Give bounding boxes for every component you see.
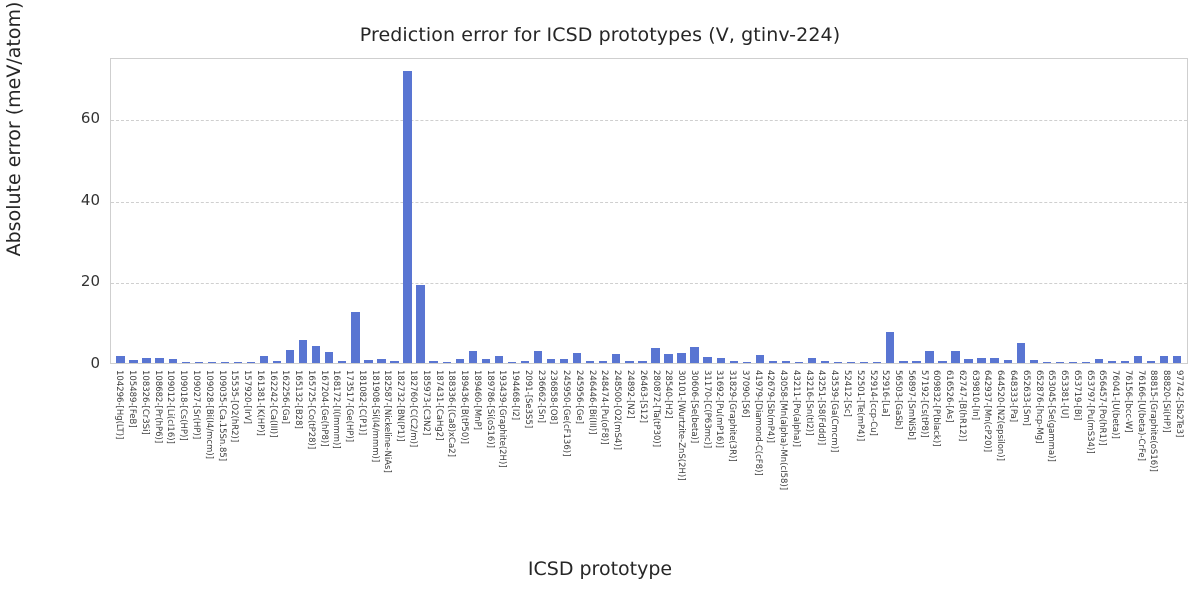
x-tick-slot: 189436-[B(tP50)] <box>458 368 471 528</box>
x-tick-slot: 109018-[Cs(HP)] <box>177 368 190 528</box>
bar <box>547 359 555 363</box>
x-tick-label: 189786-[Si(oS16)] <box>485 370 495 448</box>
bar <box>286 350 294 363</box>
bar-slot <box>584 59 597 363</box>
bar <box>155 358 163 363</box>
x-tick-slot: 189460-[MnP] <box>470 368 483 528</box>
bar <box>169 359 177 363</box>
x-tick-slot: 30101-[Wurtzite-ZnS(2H)] <box>675 368 688 528</box>
bar-slot <box>571 59 584 363</box>
x-tick-label: 642937-[Mn(cP20)] <box>982 370 992 452</box>
x-tick-slot: 43539-[Ga(Cmcm)] <box>828 368 841 528</box>
bar-slot <box>179 59 192 363</box>
x-tick-slot: 109027-[Sr(HP)] <box>190 368 203 528</box>
bar <box>638 361 646 363</box>
bar-slot <box>1027 59 1040 363</box>
x-tick-slot: 43211-[Po(alpha)] <box>790 368 803 528</box>
bar <box>1121 361 1129 363</box>
x-tick-slot: 31829-[Graphite(3R)] <box>726 368 739 528</box>
x-tick-slot: 108326-[Cr3Si] <box>139 368 152 528</box>
bar <box>873 362 881 363</box>
bar <box>899 361 907 363</box>
x-tick-label: 109027-[Sr(HP)] <box>191 370 201 439</box>
x-tick-label: 108326-[Cr3Si] <box>140 370 150 435</box>
bar-slot <box>297 59 310 363</box>
bar-slot <box>388 59 401 363</box>
bar-slot <box>766 59 779 363</box>
bar <box>221 362 229 363</box>
bar-slot <box>1119 59 1132 363</box>
x-tick-slot: 653381-[U] <box>1058 368 1071 528</box>
x-tick-slot: 248474-[Pu(oF8)] <box>598 368 611 528</box>
bar-slot <box>975 59 988 363</box>
x-tick-slot: 193439-[Graphite(2H)] <box>496 368 509 528</box>
bar <box>1147 361 1155 363</box>
bar-slot <box>492 59 505 363</box>
x-tick-label: 653381-[U] <box>1059 370 1069 418</box>
bar-slot <box>362 59 375 363</box>
bar <box>182 362 190 363</box>
x-tick-slot: 181908-[Si(I4/mmm)] <box>368 368 381 528</box>
bar-slot <box>740 59 753 363</box>
x-tick-label: 105489-[FeB] <box>127 370 137 428</box>
x-tick-slot: 28540-[H2] <box>662 368 675 528</box>
bar <box>912 361 920 363</box>
bar-slot <box>453 59 466 363</box>
bar <box>951 351 959 363</box>
x-tick-slot: 656457-[Po(hR1)] <box>1096 368 1109 528</box>
x-tick-slot: 43216-[Sn(tI2)] <box>802 368 815 528</box>
x-tick-slot: 236858-[O8] <box>547 368 560 528</box>
x-tick-label: 165132-[B28] <box>293 370 303 429</box>
x-tick-slot: 280872-[Ta(tP30)] <box>649 368 662 528</box>
bar-slot <box>858 59 871 363</box>
x-tick-slot: 616526-[As] <box>943 368 956 528</box>
x-tick-label: 15535-[O2(hR2)] <box>229 370 239 442</box>
x-tick-slot: 15535-[O2(hR2)] <box>228 368 241 528</box>
bar <box>1160 356 1168 363</box>
x-tick-slot: 26463-[S12] <box>636 368 649 528</box>
bar-slot <box>988 59 1001 363</box>
bar <box>482 359 490 363</box>
bar <box>756 355 764 363</box>
x-tick-slot: 104296-[Hg(LT)] <box>113 368 126 528</box>
x-tick-slot: 246446-[Bi(III)] <box>585 368 598 528</box>
x-tick-slot: 653045-[Se(gamma)] <box>1045 368 1058 528</box>
x-tick-slot: 105489-[FeB] <box>126 368 139 528</box>
bar-series <box>111 59 1187 363</box>
bar <box>142 358 150 363</box>
bar <box>456 359 464 363</box>
bar-slot <box>949 59 962 363</box>
bar-slot <box>610 59 623 363</box>
x-tick-label: 109012-[Li(cI16)] <box>165 370 175 444</box>
x-tick-label: 652876-[hcp-Mg] <box>1034 370 1044 443</box>
x-tick-label: 656457-[Po(hR1)] <box>1097 370 1107 446</box>
x-tick-label: 187431-[CaHg2] <box>434 370 444 441</box>
bar <box>730 361 738 363</box>
x-tick-slot: 52412-[Sc] <box>841 368 854 528</box>
x-tick-label: 236662-[Sn] <box>536 370 546 423</box>
bar <box>886 332 894 363</box>
x-tick-label: 609832-[P(black)] <box>931 370 941 446</box>
bar-slot <box>936 59 949 363</box>
bar <box>612 354 620 363</box>
bar-slot <box>1014 59 1027 363</box>
bar-slot <box>284 59 297 363</box>
bar <box>234 362 242 363</box>
x-tick-slot: 236662-[Sn] <box>534 368 547 528</box>
bar-slot <box>114 59 127 363</box>
x-tick-slot: 56897-[SmNiSb] <box>904 368 917 528</box>
bar-slot <box>479 59 492 363</box>
x-tick-label: 182732-[BN(P1)] <box>395 370 405 442</box>
x-tick-slot: 76156-[bcc-W] <box>1121 368 1134 528</box>
x-tick-label: 30101-[Wurtzite-ZnS(2H)] <box>676 370 686 481</box>
x-tick-slot: 639810-[In] <box>968 368 981 528</box>
bar-slot <box>662 59 675 363</box>
x-tick-slot: 168172-[I(Immm)] <box>330 368 343 528</box>
bar <box>129 360 137 363</box>
bar-slot <box>1171 59 1184 363</box>
bar <box>769 361 777 363</box>
x-tick-slot: 642937-[Mn(cP20)] <box>981 368 994 528</box>
x-tick-slot: 56503-[GaSb] <box>892 368 905 528</box>
x-tick-slot: 165725-[Co(tP28)] <box>304 368 317 528</box>
x-tick-slot: 62747-[B(hR12)] <box>956 368 969 528</box>
bar-slot <box>1066 59 1079 363</box>
bar-slot <box>845 59 858 363</box>
x-tick-label: 57192-[Cs(tP8)] <box>919 370 929 438</box>
bar <box>1043 362 1051 363</box>
bar <box>521 361 529 363</box>
bar <box>599 361 607 363</box>
x-tick-label: 2091-[Se3S5] <box>523 370 533 428</box>
x-tick-slot: 52501-[Te(mP4)] <box>853 368 866 528</box>
bar <box>834 362 842 363</box>
x-tick-slot: 182760-[C(C2/m)] <box>407 368 420 528</box>
x-tick-slot: 652876-[hcp-Mg] <box>1032 368 1045 528</box>
x-tick-slot: 162256-[Ga] <box>279 368 292 528</box>
bar <box>1134 356 1142 363</box>
x-tick-label: 109018-[Cs(HP)] <box>178 370 188 441</box>
x-tick-label: 43058-[Mn(alpha)-Mn(cI58)] <box>778 370 788 490</box>
x-tick-slot: 167204-[Ge(hP8)] <box>317 368 330 528</box>
x-tick-slot: 76041-[U(beta)] <box>1109 368 1122 528</box>
x-tick-label: 181082-[C(P1)] <box>357 370 367 435</box>
bar-slot <box>466 59 479 363</box>
x-tick-label: 41979-[Diamond-C(cF8)] <box>753 370 763 476</box>
x-tick-label: 108682-[Pr(hP6)] <box>153 370 163 443</box>
x-tick-slot: 24892-[N2] <box>624 368 637 528</box>
x-tick-slot: 182732-[BN(P1)] <box>394 368 407 528</box>
x-tick-label: 161381-[K(HP)] <box>255 370 265 436</box>
bar-slot <box>910 59 923 363</box>
bar-slot <box>714 59 727 363</box>
bar-slot <box>727 59 740 363</box>
x-tick-label: 56897-[SmNiSb] <box>906 370 916 440</box>
chart-title: Prediction error for ICSD prototypes (V,… <box>0 24 1200 46</box>
x-tick-label: 188336-[(Ca8)xCa2] <box>446 370 456 457</box>
y-tick-label: 20 <box>40 272 100 290</box>
bar-slot <box>688 59 701 363</box>
bar-slot <box>1145 59 1158 363</box>
x-tick-slot: 76166-[U(beta)-CrFe] <box>1134 368 1147 528</box>
bar <box>625 361 633 363</box>
x-tick-label: 109035-[Ca.15Sn.85] <box>217 370 227 461</box>
x-tick-label: 109028-[Bi(I4/mcm)] <box>204 370 214 459</box>
x-tick-label: 31692-[Pu(mP16)] <box>714 370 724 448</box>
x-tick-slot: 88820-[Si(HP)] <box>1160 368 1173 528</box>
x-tick-slot: 188336-[(Ca8)xCa2] <box>445 368 458 528</box>
x-tick-slot: 185973-[C3N2] <box>419 368 432 528</box>
bar <box>273 361 281 363</box>
bar-slot <box>1079 59 1092 363</box>
bar <box>938 361 946 363</box>
x-tick-label: 189436-[B(tP50)] <box>459 370 469 444</box>
bar-slot <box>336 59 349 363</box>
x-tick-label: 43216-[Sn(tI2)] <box>804 370 814 435</box>
bar <box>351 312 359 363</box>
bar <box>821 361 829 363</box>
bar <box>390 361 398 363</box>
x-tick-slot: 43251-[S8(Fddd)] <box>815 368 828 528</box>
x-tick-label: 616526-[As] <box>944 370 954 422</box>
bar-slot <box>192 59 205 363</box>
bar <box>338 361 346 363</box>
bar-slot <box>244 59 257 363</box>
bar <box>195 362 203 363</box>
bar <box>443 362 451 363</box>
bar-slot <box>1093 59 1106 363</box>
x-tick-label: 653045-[Se(gamma)] <box>1046 370 1056 462</box>
bar-slot <box>1040 59 1053 363</box>
x-tick-slot: 37090-[S6] <box>739 368 752 528</box>
x-tick-slot: 57192-[Cs(tP8)] <box>917 368 930 528</box>
x-tick-slot: 109035-[Ca.15Sn.85] <box>215 368 228 528</box>
bar-slot <box>819 59 832 363</box>
x-tick-label: 43251-[S8(Fddd)] <box>816 370 826 445</box>
x-tick-label: 182760-[C(C2/m)] <box>408 370 418 447</box>
x-tick-slot: 97742-[Sb2Te3] <box>1173 368 1186 528</box>
bar <box>651 348 659 363</box>
bar <box>782 361 790 363</box>
bar <box>429 361 437 363</box>
bar <box>377 359 385 363</box>
x-tick-slot: 31170-[C(P63mc)] <box>700 368 713 528</box>
bar <box>743 362 751 363</box>
x-tick-label: 648333-[Pa] <box>1008 370 1018 422</box>
bar <box>312 346 320 363</box>
x-tick-label: 236858-[O8] <box>548 370 558 424</box>
x-tick-slot: 157920-[IrV] <box>241 368 254 528</box>
bar-slot <box>923 59 936 363</box>
bar-slot <box>166 59 179 363</box>
bar <box>573 353 581 363</box>
bar <box>1056 362 1064 363</box>
x-tick-slot: 42679-[Sb(mP4)] <box>764 368 777 528</box>
bar-slot <box>558 59 571 363</box>
bar <box>808 358 816 363</box>
x-tick-label: 62747-[B(hR12)] <box>957 370 967 441</box>
x-tick-label: 185973-[C3N2] <box>421 370 431 435</box>
bar <box>208 362 216 363</box>
x-tick-slot: 2091-[Se3S5] <box>522 368 535 528</box>
bar-slot <box>779 59 792 363</box>
x-tick-label: 52501-[Te(mP4)] <box>855 370 865 441</box>
bar <box>299 340 307 363</box>
bar <box>1030 360 1038 363</box>
x-tick-label: 104296-[Hg(LT)] <box>114 370 124 439</box>
x-tick-label: 653797-[Pu(mS34)] <box>1085 370 1095 454</box>
bar <box>325 352 333 363</box>
bar-slot <box>375 59 388 363</box>
bar <box>586 361 594 363</box>
x-tick-slot: 653719-[Bi] <box>1070 368 1083 528</box>
x-tick-label: 43539-[Ga(Cmcm)] <box>829 370 839 452</box>
x-tick-slot: 187431-[CaHg2] <box>432 368 445 528</box>
x-tick-label: 245956-[Ge] <box>574 370 584 424</box>
bar-slot <box>962 59 975 363</box>
x-tick-slot: 30606-[Se(beta)] <box>687 368 700 528</box>
bar <box>495 356 503 363</box>
x-tick-slot: 189786-[Si(oS16)] <box>483 368 496 528</box>
x-tick-label: 76156-[bcc-W] <box>1123 370 1133 433</box>
bar-slot <box>884 59 897 363</box>
bar <box>1095 359 1103 363</box>
bar-slot <box>258 59 271 363</box>
bar-slot <box>153 59 166 363</box>
x-tick-label: 42679-[Sb(mP4)] <box>765 370 775 443</box>
bar-slot <box>323 59 336 363</box>
bar-slot <box>427 59 440 363</box>
bar-slot <box>675 59 688 363</box>
x-tick-label: 31170-[C(P63mc)] <box>702 370 712 448</box>
bar <box>416 285 424 363</box>
bar-slot <box>701 59 714 363</box>
bar <box>717 358 725 363</box>
x-tick-label: 52916-[La] <box>880 370 890 417</box>
bar <box>403 71 411 363</box>
bar-slot <box>310 59 323 363</box>
x-tick-label: 165725-[Co(tP28)] <box>306 370 316 449</box>
x-tick-slot: 52916-[La] <box>879 368 892 528</box>
bar <box>1017 343 1025 363</box>
bar <box>1004 360 1012 363</box>
y-axis-label: Absolute error (meV/atom) <box>3 0 25 379</box>
bar-slot <box>1132 59 1145 363</box>
bar-slot <box>1053 59 1066 363</box>
x-tick-label: 653719-[Bi] <box>1072 370 1082 420</box>
bar <box>690 347 698 363</box>
x-tick-label: 162256-[Ga] <box>280 370 290 424</box>
x-tick-slot: 194468-[I2] <box>509 368 522 528</box>
x-tick-label: 189460-[MnP] <box>472 370 482 430</box>
bar-slot <box>649 59 662 363</box>
x-tick-label: 30606-[Se(beta)] <box>689 370 699 443</box>
x-tick-slot: 648333-[Pa] <box>1007 368 1020 528</box>
bar-slot <box>1158 59 1171 363</box>
bar-slot <box>597 59 610 363</box>
x-tick-label: 245950-[Ge(cF136)] <box>561 370 571 456</box>
x-tick-slot: 644520-[N2(epsilon)] <box>994 368 1007 528</box>
bar <box>1108 361 1116 363</box>
y-tick-label: 0 <box>40 354 100 372</box>
bar <box>116 356 124 363</box>
bar <box>964 359 972 363</box>
bar <box>364 360 372 363</box>
x-axis-ticks: 104296-[Hg(LT)]105489-[FeB]108326-[Cr3Si… <box>110 368 1188 528</box>
bar <box>860 362 868 363</box>
x-tick-label: 97742-[Sb2Te3] <box>1174 370 1184 437</box>
x-tick-label: 31829-[Graphite(3R)] <box>727 370 737 462</box>
x-tick-label: 173517-[Ge(HP)] <box>344 370 354 442</box>
x-tick-slot: 245950-[Ge(cF136)] <box>560 368 573 528</box>
y-tick-label: 60 <box>40 109 100 127</box>
bar-slot <box>623 59 636 363</box>
bar-slot <box>440 59 453 363</box>
x-tick-label: 162242-[Ca(III)] <box>268 370 278 437</box>
bar <box>847 362 855 363</box>
bar-slot <box>636 59 649 363</box>
x-tick-label: 280872-[Ta(tP30)] <box>651 370 661 447</box>
bar <box>703 357 711 363</box>
x-tick-label: 76166-[U(beta)-CrFe] <box>1136 370 1146 461</box>
x-tick-label: 168172-[I(Immm)] <box>331 370 341 449</box>
x-tick-label: 644520-[N2(epsilon)] <box>995 370 1005 461</box>
bar-slot <box>414 59 427 363</box>
x-tick-slot: 652633-[Sm] <box>1019 368 1032 528</box>
bar-slot <box>231 59 244 363</box>
chart-figure: Prediction error for ICSD prototypes (V,… <box>0 0 1200 600</box>
bar-slot <box>871 59 884 363</box>
x-tick-label: 157920-[IrV] <box>242 370 252 424</box>
x-tick-label: 181908-[Si(I4/mmm)] <box>370 370 380 462</box>
x-tick-label: 56503-[GaSb] <box>893 370 903 429</box>
x-tick-slot: 109028-[Bi(I4/mcm)] <box>202 368 215 528</box>
x-tick-slot: 248500-[O2(mS4)] <box>611 368 624 528</box>
x-tick-label: 26463-[S12] <box>638 370 648 423</box>
x-tick-slot: 88815-[Graphite(oS16)] <box>1147 368 1160 528</box>
bar-slot <box>127 59 140 363</box>
x-tick-label: 193439-[Graphite(2H)] <box>497 370 507 468</box>
bar-slot <box>271 59 284 363</box>
x-tick-label: 28540-[H2] <box>663 370 673 419</box>
x-tick-label: 52914-[ccp-Cu] <box>868 370 878 436</box>
bar <box>677 353 685 363</box>
bar-slot <box>832 59 845 363</box>
bar <box>977 358 985 363</box>
bar <box>534 351 542 363</box>
x-tick-slot: 181082-[C(P1)] <box>356 368 369 528</box>
bar <box>1173 356 1181 363</box>
x-tick-slot: 162242-[Ca(III)] <box>266 368 279 528</box>
bar <box>1082 362 1090 363</box>
x-tick-slot: 245956-[Ge] <box>573 368 586 528</box>
x-tick-slot: 182587-[Nickeline-NiAs] <box>381 368 394 528</box>
bar <box>664 354 672 363</box>
x-tick-slot: 43058-[Mn(alpha)-Mn(cI58)] <box>777 368 790 528</box>
x-tick-slot: 173517-[Ge(HP)] <box>343 368 356 528</box>
bar <box>469 351 477 363</box>
bar-slot <box>349 59 362 363</box>
x-tick-label: 76041-[U(beta)] <box>1110 370 1120 439</box>
x-tick-label: 24892-[N2] <box>625 370 635 419</box>
x-tick-label: 248500-[O2(mS4)] <box>612 370 622 450</box>
bar <box>925 351 933 363</box>
bar-slot <box>505 59 518 363</box>
x-tick-slot: 653797-[Pu(mS34)] <box>1083 368 1096 528</box>
